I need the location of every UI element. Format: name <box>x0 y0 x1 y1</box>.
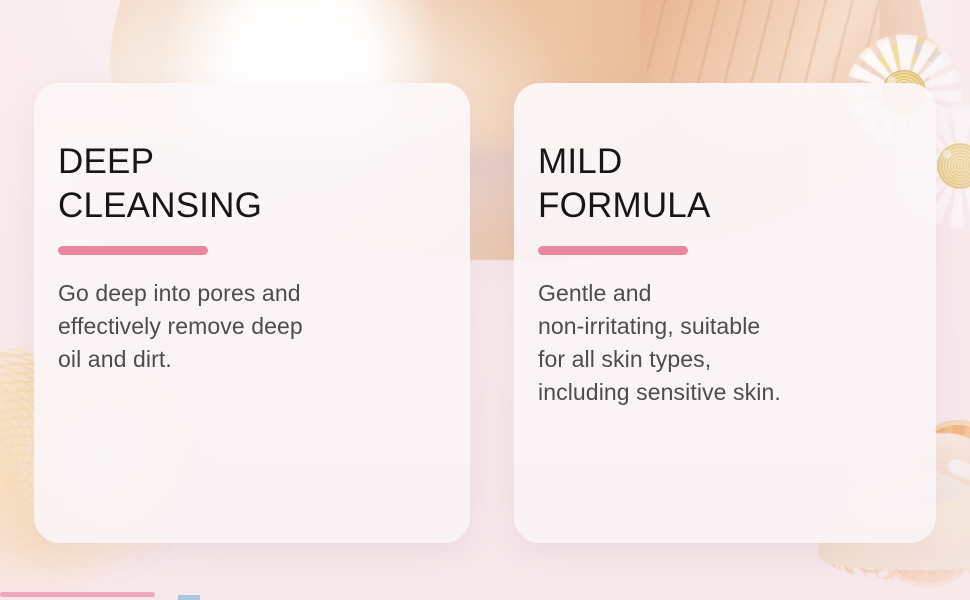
bottom-accent-chip <box>178 595 200 600</box>
card-accent-rule <box>538 246 688 255</box>
card-accent-rule <box>58 246 208 255</box>
feature-card-group: DEEP CLEANSING Go deep into pores and ef… <box>0 0 970 600</box>
card-title: MILD FORMULA <box>538 140 936 228</box>
card-body-text: Go deep into pores and effectively remov… <box>58 277 470 376</box>
card-body-text: Gentle and non-irritating, suitable for … <box>538 277 936 409</box>
bottom-progress-rail[interactable] <box>0 592 155 597</box>
feature-card-deep-cleansing[interactable]: DEEP CLEANSING Go deep into pores and ef… <box>34 83 470 543</box>
card-title: DEEP CLEANSING <box>58 140 470 228</box>
feature-card-mild-formula[interactable]: MILD FORMULA Gentle and non-irritating, … <box>514 83 936 543</box>
